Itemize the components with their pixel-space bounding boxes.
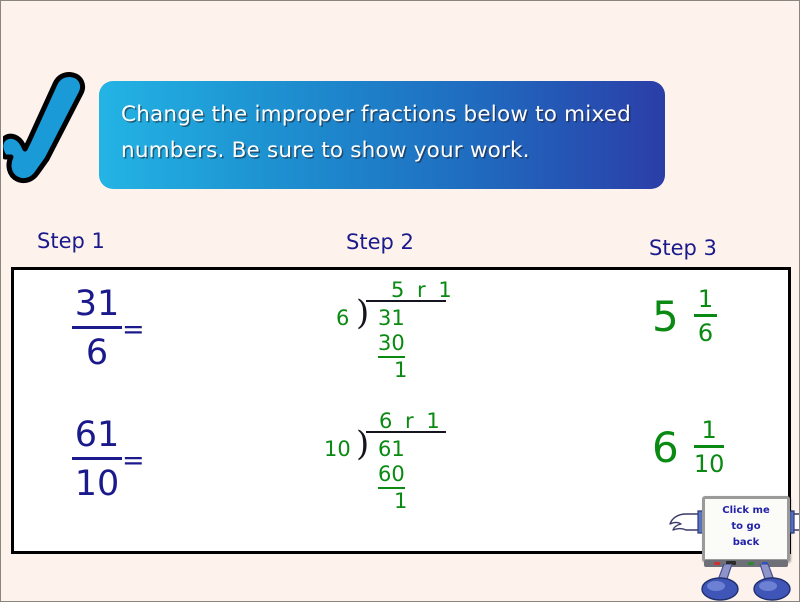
instruction-text: Change the improper fractions below to m… (121, 97, 643, 169)
division-dividend: 61 (378, 437, 405, 461)
division-vinculum (366, 300, 446, 302)
left-hand-icon (668, 508, 706, 538)
mixed-fraction-part: 1 10 (694, 417, 725, 480)
mixed-denominator: 10 (694, 448, 725, 480)
mixed-number-answer: 6 1 10 (652, 413, 724, 483)
step-label-1: Step 1 (37, 229, 105, 253)
division-quotient: 5 r 1 (391, 278, 455, 302)
division-bracket-icon: ) (356, 300, 372, 330)
whiteboard-screen[interactable]: Click me to go back (702, 496, 790, 562)
division-remainder: 1 (394, 358, 407, 382)
division-subtrahend: 60 (378, 462, 405, 489)
equals-sign: = (122, 445, 145, 476)
check-mark-icon (3, 69, 113, 191)
mixed-number-answer: 5 1 6 (652, 282, 717, 352)
back-button-line-2: to go (705, 519, 787, 535)
division-divisor: 10 (324, 437, 351, 461)
division-quotient: 6 r 1 (379, 409, 443, 433)
go-back-button[interactable]: Click me to go back (698, 494, 794, 599)
mixed-denominator: 6 (694, 317, 717, 349)
division-divisor: 6 (336, 306, 349, 330)
whiteboard-legs-icon (698, 564, 794, 602)
back-button-line-1: Click me (705, 503, 787, 519)
instruction-banner: Change the improper fractions below to m… (99, 81, 665, 189)
division-subtrahend: 30 (378, 331, 405, 358)
division-bracket-icon: ) (356, 431, 372, 461)
fraction-numerator: 61 (72, 415, 123, 460)
mixed-numerator: 1 (694, 417, 725, 448)
mixed-fraction-part: 1 6 (694, 286, 717, 349)
fraction-numerator: 31 (72, 284, 123, 329)
mixed-whole-part: 5 (652, 282, 679, 352)
division-remainder: 1 (394, 489, 407, 513)
division-vinculum (366, 431, 446, 433)
mixed-whole-part: 6 (652, 413, 679, 483)
slide-canvas: Change the improper fractions below to m… (0, 0, 800, 602)
mixed-numerator: 1 (694, 286, 717, 317)
division-dividend: 31 (378, 306, 405, 330)
equals-sign: = (122, 314, 145, 345)
step-label-3: Step 3 (649, 236, 717, 260)
step-label-2: Step 2 (346, 230, 414, 254)
back-button-line-3: back (705, 535, 787, 551)
